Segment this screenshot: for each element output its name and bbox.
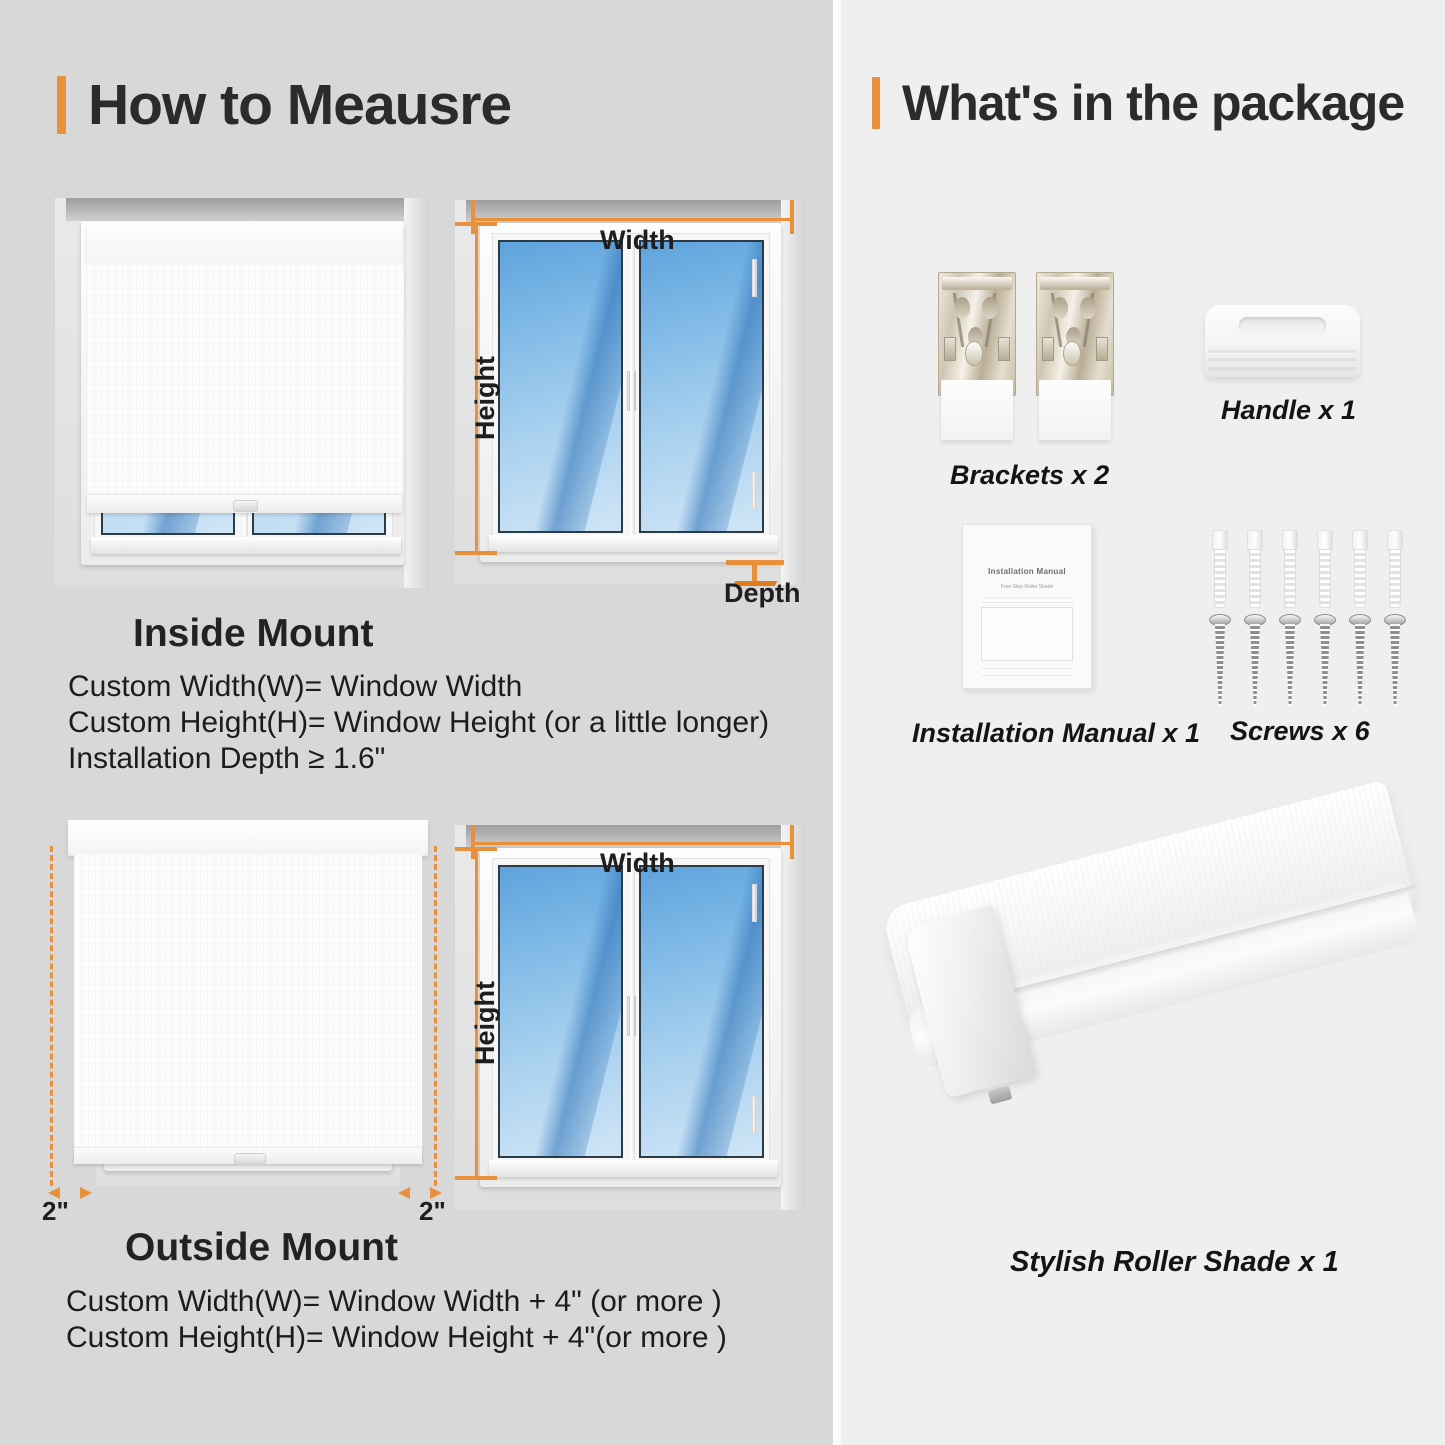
package-heading: What's in the package <box>872 74 1404 132</box>
glass-pane-right <box>639 240 764 533</box>
inside-mount-line-3: Installation Depth ≥ 1.6" <box>68 742 385 776</box>
manual-cover-title: Installation Manual <box>973 567 1081 576</box>
height-measure-endcap <box>455 551 497 555</box>
height-label: Height <box>470 981 501 1065</box>
manual-cover-subtitle: Free-Stop Roller Shade <box>973 584 1081 590</box>
handle-part <box>1205 305 1360 377</box>
window-jamb-right <box>781 825 806 1210</box>
inside-mount-line-1: Custom Width(W)= Window Width <box>68 670 522 704</box>
shade-fabric <box>74 855 422 1148</box>
handle-grip-slot <box>1239 317 1326 336</box>
package-title: What's in the package <box>902 74 1404 132</box>
wall-anchor-part <box>1209 530 1231 608</box>
roller-shade-label: Stylish Roller Shade x 1 <box>1010 1246 1339 1279</box>
bracket-part <box>938 272 1016 440</box>
roller-shade-product-image <box>905 880 1425 1210</box>
shade-headrail <box>68 820 428 856</box>
accent-bar-icon <box>872 77 880 129</box>
inside-mount-line-2: Custom Height(H)= Window Height (or a li… <box>68 706 769 740</box>
glass-pane-left <box>498 865 623 1158</box>
inside-mount-title: Inside Mount <box>133 612 373 656</box>
shade-headrail <box>87 225 402 265</box>
screw-part <box>1279 614 1301 706</box>
handle-label: Handle x 1 <box>1221 395 1356 426</box>
hinge-icon <box>752 259 757 297</box>
installation-manual-part: Installation Manual Free-Stop Roller Sha… <box>962 524 1092 689</box>
window-jamb-right <box>404 198 430 588</box>
wall-anchor-part <box>1314 530 1336 608</box>
hinge-icon <box>752 471 757 509</box>
depth-label: Depth <box>724 578 801 609</box>
window-sill <box>489 1160 778 1177</box>
window-sill <box>489 535 778 552</box>
height-measure-endcap <box>455 847 497 851</box>
width-measure-line <box>472 842 794 845</box>
hinge-icon <box>752 884 757 922</box>
overhang-label-right: 2" <box>419 1196 446 1227</box>
wall-anchor-part <box>1279 530 1301 608</box>
installation-manual-label: Installation Manual x 1 <box>912 718 1200 749</box>
how-to-measure-heading: How to Meausre <box>57 72 511 138</box>
wall-anchor-part <box>1349 530 1371 608</box>
window-opening <box>492 233 771 540</box>
hinge-icon <box>752 1096 757 1134</box>
width-measure-endcap <box>790 200 794 234</box>
bracket-part <box>1036 272 1114 440</box>
window-jamb-right <box>781 200 806 585</box>
inside-mount-shade-illustration <box>55 198 430 588</box>
height-label: Height <box>470 356 501 440</box>
width-label: Width <box>600 848 675 879</box>
overhang-guide-left <box>50 846 53 1186</box>
shade-pull-handle <box>233 500 257 512</box>
screw-part <box>1209 614 1231 706</box>
shade-roll-pin <box>988 1085 1013 1104</box>
brackets-label: Brackets x 2 <box>950 460 1109 491</box>
screw-part <box>1384 614 1406 706</box>
screw-part <box>1314 614 1336 706</box>
window-sill <box>91 537 401 554</box>
outside-mount-line-1: Custom Width(W)= Window Width + 4" (or m… <box>66 1285 722 1319</box>
panel-divider <box>833 0 841 1445</box>
accent-bar-icon <box>57 76 66 134</box>
window-handles <box>629 996 635 1036</box>
glass-pane-left <box>498 240 623 533</box>
window-frame <box>480 848 781 1187</box>
screw-part <box>1349 614 1371 706</box>
inside-mount-measure-diagram <box>455 200 805 585</box>
wall-anchor-part <box>1384 530 1406 608</box>
outside-mount-measure-diagram <box>455 825 805 1210</box>
screw-part <box>1244 614 1266 706</box>
wall-anchor-part <box>1244 530 1266 608</box>
shade-fabric <box>87 264 402 494</box>
infographic-page: How to Meausre What's in the package <box>0 0 1445 1445</box>
screws-label: Screws x 6 <box>1230 716 1370 747</box>
height-measure-endcap <box>455 1176 497 1180</box>
width-label: Width <box>600 225 675 256</box>
outside-mount-title: Outside Mount <box>125 1226 398 1270</box>
width-measure-endcap <box>790 825 794 859</box>
window-opening <box>492 858 771 1165</box>
window-lintel <box>66 198 430 221</box>
window-handles <box>629 371 635 411</box>
overhang-label-left: 2" <box>42 1196 69 1227</box>
overhang-guide-right <box>434 846 437 1186</box>
window-frame <box>480 223 781 562</box>
outside-mount-shade-illustration <box>48 812 448 1202</box>
outside-mount-line-2: Custom Height(H)= Window Height + 4"(or … <box>66 1321 727 1355</box>
height-measure-endcap <box>455 222 497 226</box>
how-to-measure-title: How to Meausre <box>88 72 511 138</box>
width-measure-line <box>472 218 794 221</box>
shade-pull-handle <box>234 1153 266 1165</box>
glass-pane-right <box>639 865 764 1158</box>
